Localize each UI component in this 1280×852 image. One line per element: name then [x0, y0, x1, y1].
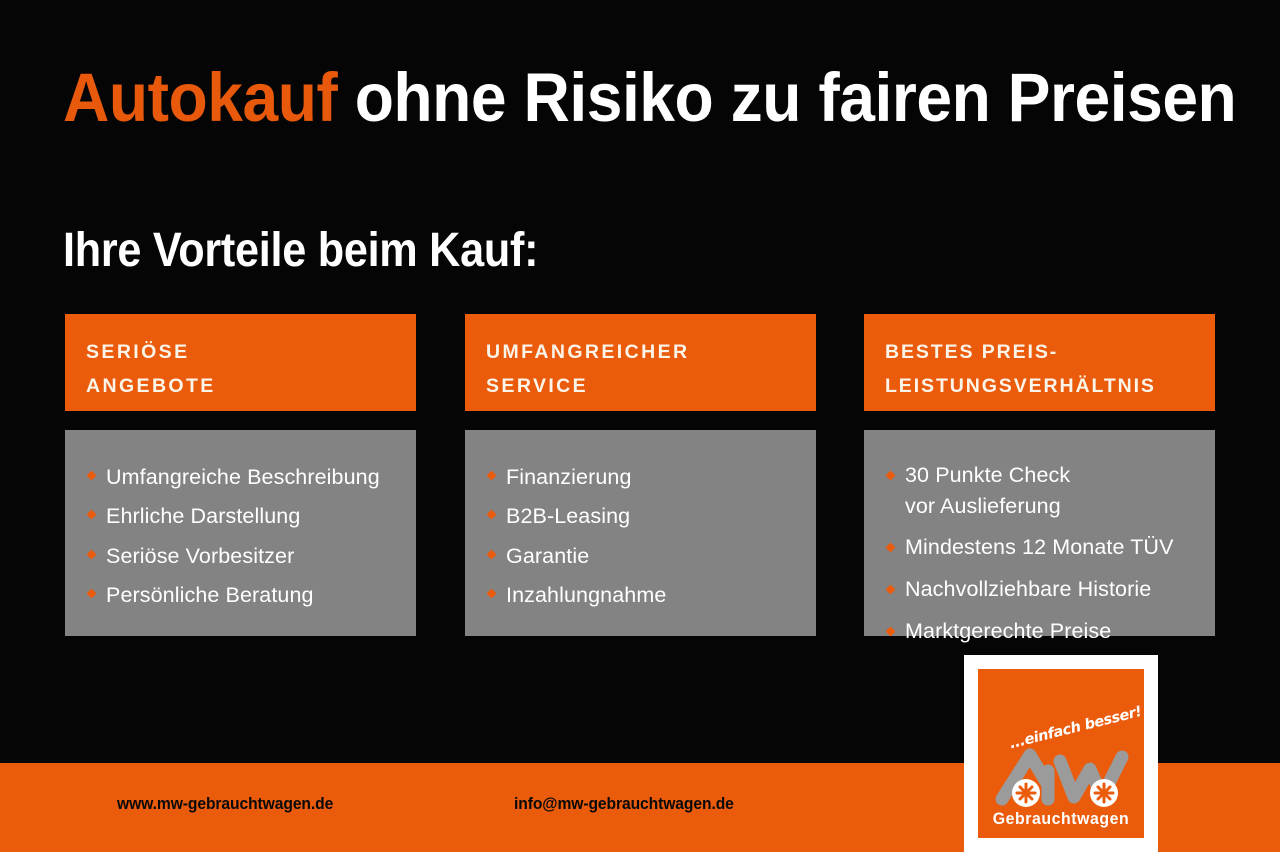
benefits-columns: SERIÖSE ANGEBOTE Umfangreiche Beschreibu…: [65, 314, 1215, 636]
benefit-column-umfangreicher-service: UMFANGREICHER SERVICE Finanzierung B2B-L…: [465, 314, 816, 636]
benefit-column-preis-leistung: BESTES PREIS- LEISTUNGSVERHÄLTNIS 30 Pun…: [864, 314, 1215, 636]
logo-panel: ...einfach besser! Gebrauchtwagen: [978, 669, 1144, 838]
page-title-accent: Autokauf: [63, 59, 337, 136]
page-title-rest: ohne Risiko zu fairen Preisen: [337, 59, 1236, 136]
list-item: Nachvollziehbare Historie: [886, 574, 1215, 605]
page-title: Autokauf ohne Risiko zu fairen Preisen: [63, 63, 1142, 132]
benefit-column-serioese-angebote: SERIÖSE ANGEBOTE Umfangreiche Beschreibu…: [65, 314, 416, 636]
list-item: Umfangreiche Beschreibung: [87, 460, 416, 494]
list-item: Ehrliche Darstellung: [87, 499, 416, 533]
subheading: Ihre Vorteile beim Kauf:: [63, 223, 538, 278]
company-logo: ...einfach besser! Gebrauchtwagen: [964, 655, 1158, 852]
list-item: Mindestens 12 Monate TÜV: [886, 532, 1215, 563]
list-item: Garantie: [487, 539, 816, 573]
list-item: 30 Punkte Check vor Auslieferung: [886, 460, 1215, 521]
column-body-2: Finanzierung B2B-Leasing Garantie Inzahl…: [465, 430, 816, 636]
list-item: Finanzierung: [487, 460, 816, 494]
list-item: Persönliche Beratung: [87, 578, 416, 612]
list-item: Marktgerechte Preise: [886, 616, 1215, 647]
poster-canvas: Autokauf ohne Risiko zu fairen Preisen I…: [0, 0, 1280, 852]
column-body-1: Umfangreiche Beschreibung Ehrliche Darst…: [65, 430, 416, 636]
benefit-list-1: Umfangreiche Beschreibung Ehrliche Darst…: [87, 460, 416, 613]
list-item: Inzahlungnahme: [487, 578, 816, 612]
column-header-1: SERIÖSE ANGEBOTE: [65, 314, 416, 411]
column-header-2: UMFANGREICHER SERVICE: [465, 314, 816, 411]
logo-company-name: Gebrauchtwagen: [981, 810, 1140, 829]
column-body-3: 30 Punkte Check vor Auslieferung Mindest…: [864, 430, 1215, 636]
benefit-list-3: 30 Punkte Check vor Auslieferung Mindest…: [886, 460, 1215, 647]
mw-monogram-icon: [986, 741, 1136, 809]
email-link[interactable]: info@mw-gebrauchtwagen.de: [514, 794, 734, 814]
column-title-1: SERIÖSE ANGEBOTE: [86, 336, 416, 403]
benefit-list-2: Finanzierung B2B-Leasing Garantie Inzahl…: [487, 460, 816, 613]
website-link[interactable]: www.mw-gebrauchtwagen.de: [117, 794, 333, 814]
column-header-3: BESTES PREIS- LEISTUNGSVERHÄLTNIS: [864, 314, 1215, 411]
list-item: Seriöse Vorbesitzer: [87, 539, 416, 573]
column-title-3: BESTES PREIS- LEISTUNGSVERHÄLTNIS: [885, 336, 1215, 403]
column-title-2: UMFANGREICHER SERVICE: [486, 336, 816, 403]
list-item: B2B-Leasing: [487, 499, 816, 533]
